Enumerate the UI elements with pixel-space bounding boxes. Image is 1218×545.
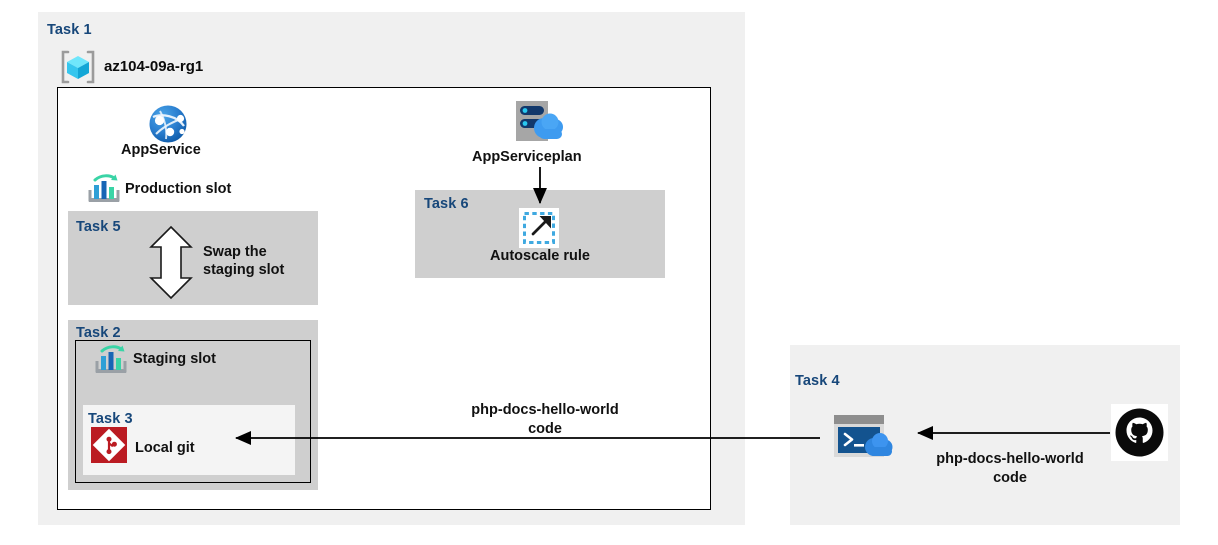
git-icon xyxy=(91,427,127,463)
resource-group-icon xyxy=(60,50,96,84)
production-slot-label: Production slot xyxy=(125,181,231,198)
deployment-slot-icon-production xyxy=(88,174,120,204)
autoscale-rule-icon xyxy=(519,208,559,248)
task4-arrow-label-line1: php-docs-hello-world xyxy=(936,451,1083,467)
task1-label: Task 1 xyxy=(47,22,92,38)
center-arrow-label: php-docs-hello-world code xyxy=(455,401,635,439)
staging-slot-label: Staging slot xyxy=(133,351,216,368)
app-service-label: AppService xyxy=(121,142,201,159)
deployment-slot-icon-staging xyxy=(95,345,127,375)
app-service-icon xyxy=(147,104,189,144)
task4-label: Task 4 xyxy=(795,373,840,389)
task5-label: Task 5 xyxy=(76,219,121,235)
local-git-label: Local git xyxy=(135,440,195,457)
app-service-plan-label: AppServiceplan xyxy=(472,149,582,166)
task3-label: Task 3 xyxy=(88,411,133,427)
github-icon xyxy=(1111,404,1168,461)
task4-arrow-label: php-docs-hello-world code xyxy=(920,450,1100,488)
swap-up-down-arrow-icon xyxy=(148,225,194,300)
task6-label: Task 6 xyxy=(424,196,469,212)
cloud-shell-icon xyxy=(832,413,900,459)
task2-label: Task 2 xyxy=(76,325,121,341)
task5-action-label: Swap the staging slot xyxy=(203,243,313,279)
app-service-plan-icon xyxy=(511,98,569,146)
autoscale-rule-label: Autoscale rule xyxy=(490,248,590,265)
resource-group-name: az104-09a-rg1 xyxy=(104,58,203,75)
center-arrow-label-line2: code xyxy=(528,421,562,437)
center-arrow-label-line1: php-docs-hello-world xyxy=(471,402,618,418)
task4-arrow-label-line2: code xyxy=(993,470,1027,486)
